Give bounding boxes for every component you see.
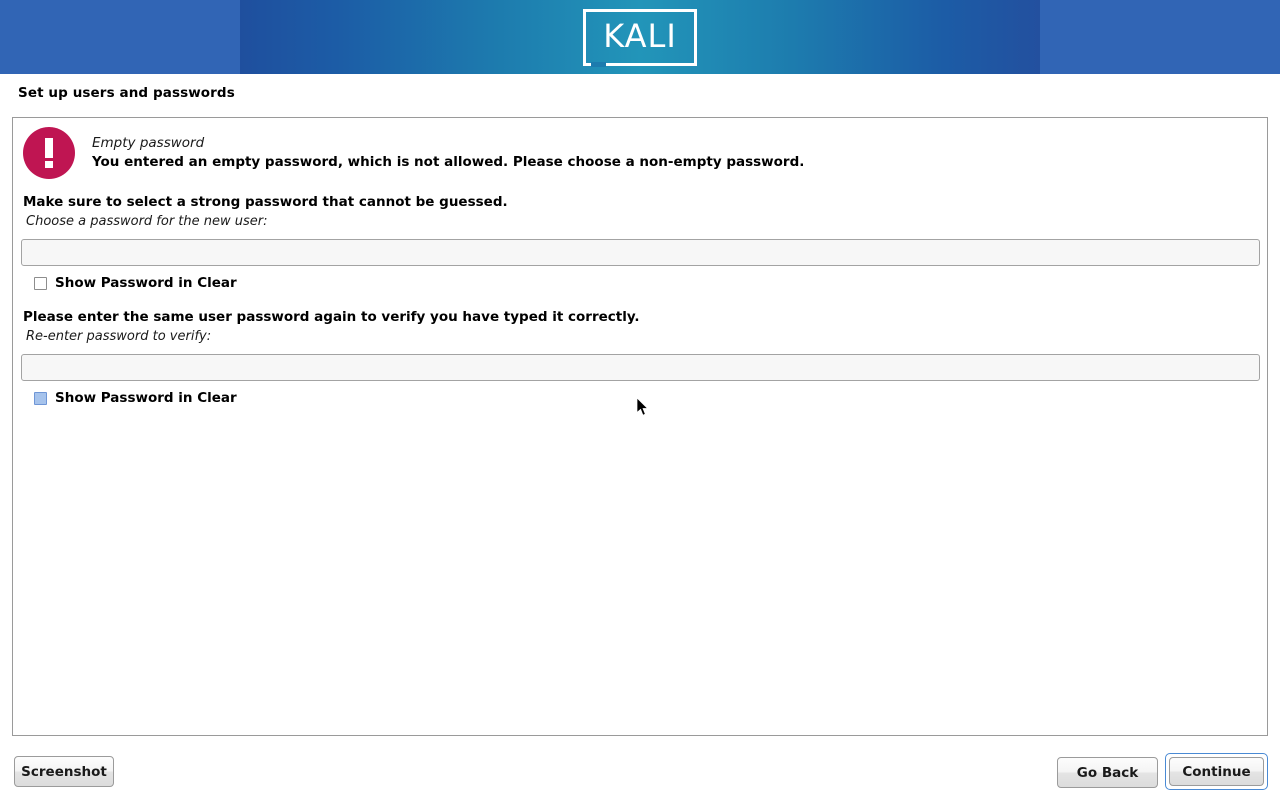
verify-password-note: Please enter the same user password agai…	[23, 309, 640, 325]
password-input[interactable]	[21, 239, 1260, 266]
go-back-button[interactable]: Go Back	[1057, 757, 1158, 788]
show-password-2-label: Show Password in Clear	[55, 390, 237, 406]
strong-password-note: Make sure to select a strong password th…	[23, 194, 508, 210]
show-password-2-checkbox[interactable]	[34, 392, 47, 405]
continue-button[interactable]: Continue	[1169, 757, 1264, 786]
screenshot-button[interactable]: Screenshot	[14, 756, 114, 787]
exclamation-bar	[45, 138, 53, 158]
password-field-label: Choose a password for the new user:	[26, 214, 268, 229]
show-password-1-label: Show Password in Clear	[55, 275, 237, 291]
show-password-1-checkbox[interactable]	[34, 277, 47, 290]
installer-window: KALI Set up users and passwords Empty pa…	[0, 0, 1280, 800]
error-title: Empty password	[92, 135, 204, 151]
exclamation-dot	[45, 161, 53, 168]
error-message: You entered an empty password, which is …	[92, 154, 804, 170]
kali-logo-icon: KALI	[583, 9, 697, 66]
main-panel: Empty password You entered an empty pass…	[12, 117, 1268, 736]
kali-banner: KALI	[0, 0, 1280, 74]
verify-password-input[interactable]	[21, 354, 1260, 381]
kali-logo-text: KALI	[583, 9, 697, 66]
verify-field-label: Re-enter password to verify:	[26, 329, 211, 344]
page-title: Set up users and passwords	[18, 85, 235, 101]
error-exclamation-icon	[23, 127, 75, 179]
